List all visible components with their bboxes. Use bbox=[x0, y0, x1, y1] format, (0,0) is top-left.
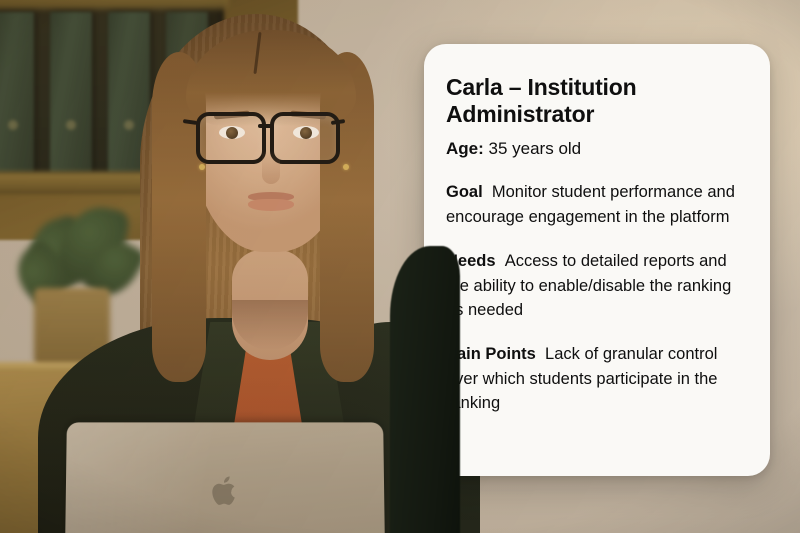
apple-logo-icon bbox=[210, 474, 240, 508]
persona-field-goal: GoalMonitor student performance and enco… bbox=[446, 180, 742, 229]
persona-field-label: Pain Points bbox=[446, 345, 545, 363]
persona-field-label: Goal bbox=[446, 183, 492, 201]
blazer-shoulder-overlap bbox=[390, 246, 460, 533]
persona-field-needs: NeedsAccess to detailed reports and the … bbox=[446, 249, 742, 322]
earring-icon bbox=[199, 164, 205, 170]
lower-lip bbox=[248, 199, 294, 211]
persona-field-pain-points: Pain PointsLack of granular control over… bbox=[446, 342, 742, 415]
persona-age-value: 35 years old bbox=[489, 139, 582, 158]
eyeglass-lens-left bbox=[196, 112, 266, 164]
persona-title: Carla – Institution Administrator bbox=[446, 74, 706, 128]
nose bbox=[262, 152, 280, 184]
eyeglass-lens-right bbox=[270, 112, 340, 164]
persona-scene: Carla – Institution Administrator Age: 3… bbox=[0, 0, 800, 533]
earring-icon bbox=[343, 164, 349, 170]
persona-card: Carla – Institution Administrator Age: 3… bbox=[424, 44, 770, 476]
persona-age: Age: 35 years old bbox=[446, 138, 742, 160]
eyeglass-bridge bbox=[258, 124, 274, 128]
laptop bbox=[65, 422, 385, 533]
persona-age-label: Age: bbox=[446, 139, 484, 158]
